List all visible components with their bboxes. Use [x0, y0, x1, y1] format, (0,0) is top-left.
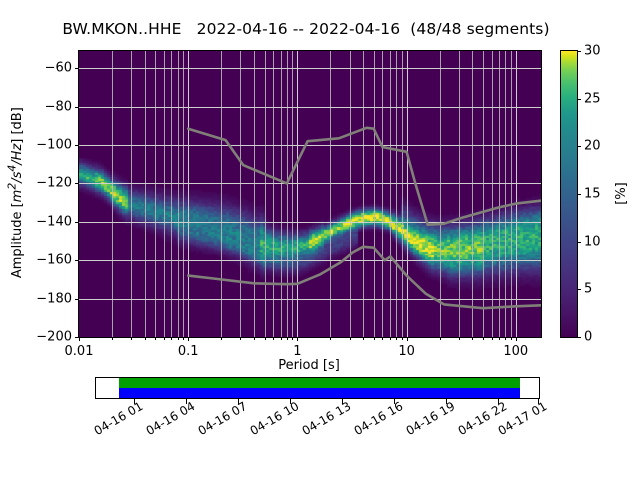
- colorbar-label-text: [%]: [614, 182, 629, 205]
- timeline-tick-label: 04-16 07: [196, 399, 250, 438]
- x-tick-label: 0.01: [65, 337, 94, 359]
- x-tick-label: 10: [398, 337, 415, 359]
- timeline-coverage-band: [119, 378, 520, 388]
- timeline-tick-label: 04-16 13: [300, 399, 354, 438]
- colorbar-tick-label: 0: [577, 330, 592, 345]
- x-tick-label: 100: [503, 337, 528, 359]
- x-tick-label: 1: [293, 337, 301, 359]
- x-axis-label: Period [s]: [78, 358, 540, 373]
- y-tick-label: −140: [36, 214, 79, 229]
- timeline-tick-label: 04-16 10: [248, 399, 302, 438]
- y-axis-label: Amplitude [m2/s4/Hz] [dB]: [6, 50, 24, 336]
- colorbar-tick-label: 10: [577, 234, 601, 249]
- noise-model-curves: [79, 51, 541, 337]
- colorbar-tick-label: 30: [577, 44, 601, 59]
- colorbar-tick-label: 5: [577, 282, 592, 297]
- coverage-timeline[interactable]: [95, 377, 540, 399]
- x-tick-label: 0.1: [178, 337, 199, 359]
- timeline-tick-label: 04-16 01: [92, 399, 146, 438]
- page-title: BW.MKON..HHE 2022-04-16 -- 2022-04-16 (4…: [0, 20, 612, 38]
- y-tick-label: −60: [45, 61, 79, 76]
- y-axis-label-text: Amplitude [m2/s4/Hz] [dB]: [5, 108, 24, 279]
- colorbar: 051015202530: [560, 50, 578, 338]
- timeline-data-band: [119, 388, 520, 398]
- colorbar-tick-label: 15: [577, 187, 601, 202]
- ppsd-figure: BW.MKON..HHE 2022-04-16 -- 2022-04-16 (4…: [0, 0, 640, 480]
- y-tick-label: −180: [36, 291, 79, 306]
- colorbar-tick-label: 25: [577, 91, 601, 106]
- timeline-tick-label: 04-16 16: [352, 399, 406, 438]
- ppsd-plot-area: −60−80−100−120−140−160−180−2000.010.1110…: [78, 50, 542, 338]
- colorbar-label: [%]: [612, 50, 630, 336]
- colorbar-tick-label: 20: [577, 139, 601, 154]
- timeline-tick-label: 04-16 19: [404, 399, 458, 438]
- y-tick-label: −100: [36, 138, 79, 153]
- noise-model-nlnm: [188, 247, 541, 308]
- y-tick-label: −120: [36, 176, 79, 191]
- timeline-tick-label: 04-16 04: [144, 399, 198, 438]
- y-tick-label: −160: [36, 253, 79, 268]
- y-tick-label: −80: [45, 99, 79, 114]
- noise-model-nhnm: [188, 128, 541, 225]
